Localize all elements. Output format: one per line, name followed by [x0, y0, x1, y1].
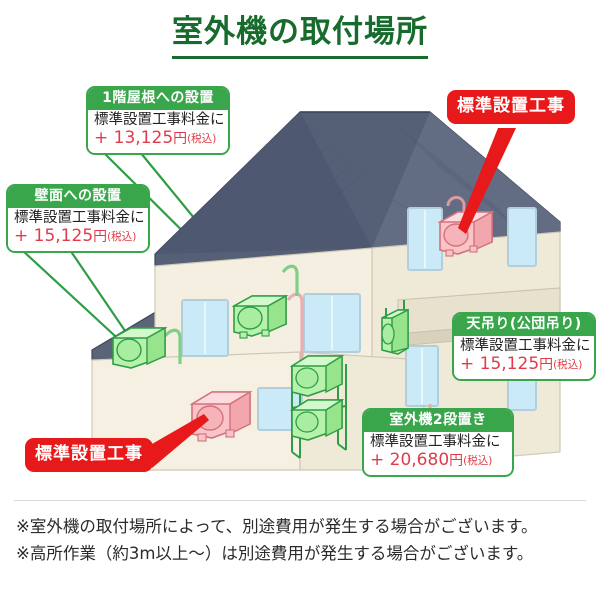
callout-ceiling-body: 標準設置工事料金に + 15,125円(税込) [454, 336, 594, 378]
callout-roof-price: + 13,125円(税込) [94, 129, 222, 149]
callout-roof-heading: 1階屋根への設置 [88, 88, 228, 110]
callout-ceiling-yen: 円 [539, 357, 553, 373]
callout-roof-tax: (税込) [187, 133, 216, 145]
callout-double-tax: (税込) [463, 455, 492, 467]
callout-wall-installation[interactable]: 壁面への設置 標準設置工事料金に + 15,125円(税込) [6, 184, 150, 253]
callout-ceiling-heading: 天吊り(公団吊り) [454, 314, 594, 336]
callout-double-line1: 標準設置工事料金に [370, 434, 506, 451]
callout-wall-line1: 標準設置工事料金に [14, 210, 142, 227]
callout-ceiling-amount: + 15,125 [460, 354, 539, 374]
callout-wall-yen: 円 [93, 229, 107, 245]
callout-roof-line1: 標準設置工事料金に [94, 112, 222, 129]
callout-double-yen: 円 [449, 453, 463, 469]
callout-wall-body: 標準設置工事料金に + 15,125円(税込) [8, 208, 148, 250]
callout-double-price: + 20,680円(税込) [370, 451, 506, 471]
callout-double-heading: 室外機2段置き [364, 410, 512, 432]
footer-notes: ※室外機の取付場所によって、別途費用が発生する場合がございます。 ※高所作業（約… [16, 514, 591, 567]
badge-standard-install-bottom[interactable]: 標準設置工事 [25, 438, 153, 472]
footer-note-2: ※高所作業（約3m以上〜）は別途費用が発生する場合がございます。 [16, 541, 591, 568]
callout-ceiling-hung[interactable]: 天吊り(公団吊り) 標準設置工事料金に + 15,125円(税込) [452, 312, 596, 381]
callout-ceiling-price: + 15,125円(税込) [460, 355, 588, 375]
callout-roof-yen: 円 [173, 131, 187, 147]
infographic-root: 室外機の取付場所 [0, 0, 600, 600]
footer-divider [14, 500, 586, 501]
callout-wall-price: + 15,125円(税込) [14, 227, 142, 247]
callout-ceiling-tax: (税込) [553, 359, 582, 371]
callout-double-body: 標準設置工事料金に + 20,680円(税込) [364, 432, 512, 474]
callout-roof-amount: + 13,125 [94, 128, 173, 148]
connector-wall [22, 250, 134, 348]
callout-roof-body: 標準設置工事料金に + 13,125円(税込) [88, 110, 228, 152]
window-far-right-upper [508, 208, 536, 266]
badge-standard-install-top[interactable]: 標準設置工事 [447, 90, 575, 124]
callout-wall-heading: 壁面への設置 [8, 186, 148, 208]
callout-roof-installation[interactable]: 1階屋根への設置 標準設置工事料金に + 13,125円(税込) [86, 86, 230, 155]
callout-double-amount: + 20,680 [370, 450, 449, 470]
callout-double-stack[interactable]: 室外機2段置き 標準設置工事料金に + 20,680円(税込) [362, 408, 514, 477]
footer-note-1: ※室外機の取付場所によって、別途費用が発生する場合がございます。 [16, 514, 591, 541]
callout-wall-tax: (税込) [107, 231, 136, 243]
callout-wall-amount: + 15,125 [14, 226, 93, 246]
callout-ceiling-line1: 標準設置工事料金に [460, 338, 588, 355]
